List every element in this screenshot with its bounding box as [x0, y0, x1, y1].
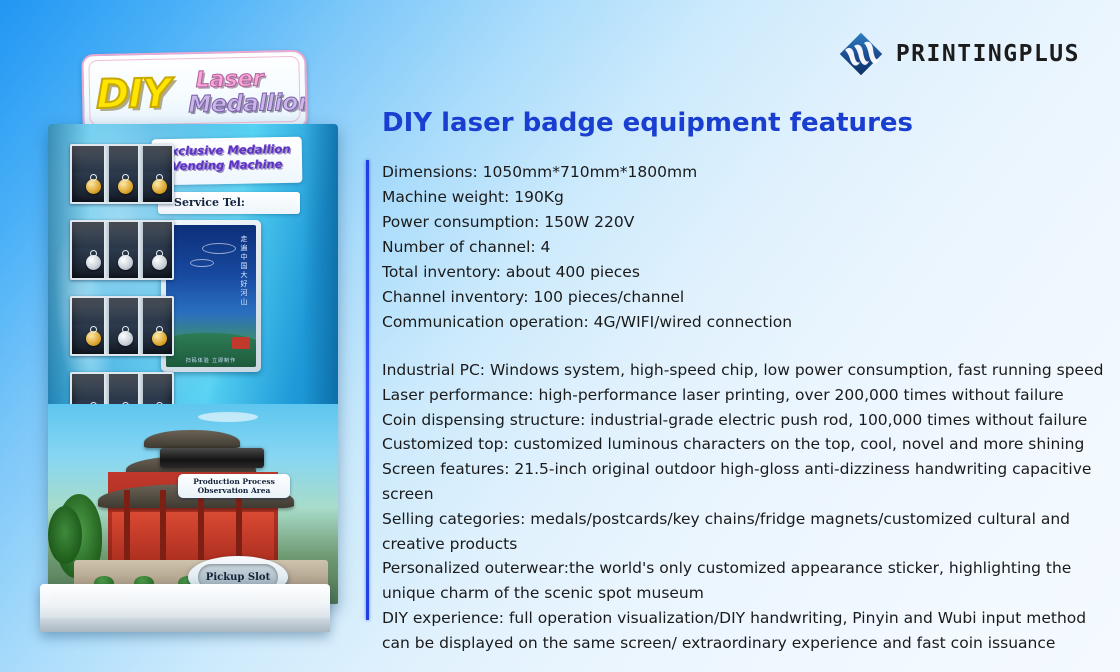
spec-item: Communication operation: 4G/WIFI/wired c…	[382, 310, 1102, 335]
content-panel: PRINTINGPLUS DIY laser badge equipment f…	[382, 0, 1120, 672]
medallion-item	[152, 255, 167, 270]
shelf-post	[104, 222, 109, 278]
vending-machine-illustration: DIY Laser Medallion Exclusive Medallion …	[40, 52, 330, 632]
medallion-hook	[156, 174, 163, 181]
spec-item: Machine weight: 190Kg	[382, 185, 1102, 210]
shelf-glare	[72, 298, 172, 323]
dispense-bar	[160, 448, 264, 468]
medallion-hook	[90, 250, 97, 257]
topper-medallion-text: Medallion	[188, 89, 308, 118]
medallion-item	[86, 331, 101, 346]
shelf-post	[104, 146, 109, 202]
artwork-cloud	[198, 412, 258, 422]
medallion-item	[152, 179, 167, 194]
diamond-w-logo-icon	[833, 26, 889, 82]
shelf-glare	[72, 146, 172, 171]
shelf-post	[138, 298, 143, 354]
screen-cloud-1	[202, 243, 236, 254]
medallion-item	[118, 179, 133, 194]
medallion-item	[118, 331, 133, 346]
shelf-glare	[72, 374, 172, 399]
medallion-item	[86, 255, 101, 270]
screen-badge-icon	[232, 337, 250, 349]
service-tel-label: Service Tel:	[174, 196, 245, 209]
medallion-hook	[156, 326, 163, 333]
observation-label-line-1: Production Process	[193, 477, 275, 486]
feature-item: Coin dispensing structure: industrial-gr…	[382, 408, 1118, 433]
medallion-item	[118, 255, 133, 270]
brand-name: PRINTINGPLUS	[896, 41, 1080, 67]
spec-item: Channel inventory: 100 pieces/channel	[382, 285, 1102, 310]
feature-item: Personalized outerwear:the world's only …	[382, 556, 1118, 606]
service-tel-plate: Service Tel:	[158, 192, 300, 214]
medallion-hook	[156, 250, 163, 257]
pagoda-roof-top	[144, 430, 240, 448]
product-shelf-row	[70, 296, 174, 356]
machine-banner: Exclusive Medallion Vending Machine	[152, 137, 303, 186]
topper-laser-text: Laser	[196, 67, 264, 93]
shelf-post	[138, 222, 143, 278]
feature-item: Laser performance: high-performance lase…	[382, 383, 1118, 408]
screen-footer-text: 扫码体验 立即制作	[166, 357, 256, 364]
medallion-hook	[122, 174, 129, 181]
spec-item: Total inventory: about 400 pieces	[382, 260, 1102, 285]
product-shelf-row	[70, 220, 174, 280]
observation-area-label: Production Process Observation Area	[178, 474, 290, 498]
page-title: DIY laser badge equipment features	[382, 108, 913, 138]
machine-topper-sign: DIY Laser Medallion	[81, 50, 308, 133]
screen-chinese-text: 走遍中国大好河山	[238, 235, 249, 307]
features-list: Industrial PC: Windows system, high-spee…	[382, 358, 1118, 656]
product-image-panel: DIY Laser Medallion Exclusive Medallion …	[0, 0, 368, 672]
vertical-divider	[366, 160, 369, 620]
touchscreen-display: 走遍中国大好河山 扫码体验 立即制作	[166, 225, 256, 367]
artwork-tree	[48, 506, 82, 564]
medallion-hook	[90, 174, 97, 181]
touchscreen-bezel: 走遍中国大好河山 扫码体验 立即制作	[161, 220, 261, 372]
shelf-glare	[72, 222, 172, 247]
feature-item: Customized top: customized luminous char…	[382, 432, 1118, 457]
shelf-post	[138, 146, 143, 202]
shelf-post	[104, 298, 109, 354]
banner-line-2: Vending Machine	[152, 157, 302, 175]
feature-item: Selling categories: medals/postcards/key…	[382, 507, 1118, 557]
medallion-item	[152, 331, 167, 346]
specifications-list: Dimensions: 1050mm*710mm*1800mm Machine …	[382, 160, 1102, 335]
spec-item: Power consumption: 150W 220V	[382, 210, 1102, 235]
product-shelf-row	[70, 144, 174, 204]
pagoda-column	[160, 490, 166, 564]
spec-item: Number of channel: 4	[382, 235, 1102, 260]
machine-base-plinth	[40, 584, 330, 632]
pagoda-column	[236, 490, 242, 564]
feature-item: Screen features: 21.5-inch original outd…	[382, 457, 1118, 507]
machine-cabinet: Exclusive Medallion Vending Machine Serv…	[48, 124, 338, 604]
pagoda-column	[198, 490, 204, 564]
brand-logo: PRINTINGPLUS	[833, 26, 1080, 82]
medallion-hook	[122, 250, 129, 257]
medallion-hook	[122, 326, 129, 333]
screen-cloud-2	[190, 259, 214, 267]
pagoda-column	[124, 490, 130, 564]
medallion-hook	[90, 326, 97, 333]
observation-label-line-2: Observation Area	[198, 486, 271, 495]
feature-item: Industrial PC: Windows system, high-spee…	[382, 358, 1118, 383]
pickup-slot-label: Pickup Slot	[206, 572, 270, 583]
spec-item: Dimensions: 1050mm*710mm*1800mm	[382, 160, 1102, 185]
medallion-item	[86, 179, 101, 194]
topper-diy-text: DIY	[96, 71, 171, 119]
feature-item: DIY experience: full operation visualiza…	[382, 606, 1118, 656]
